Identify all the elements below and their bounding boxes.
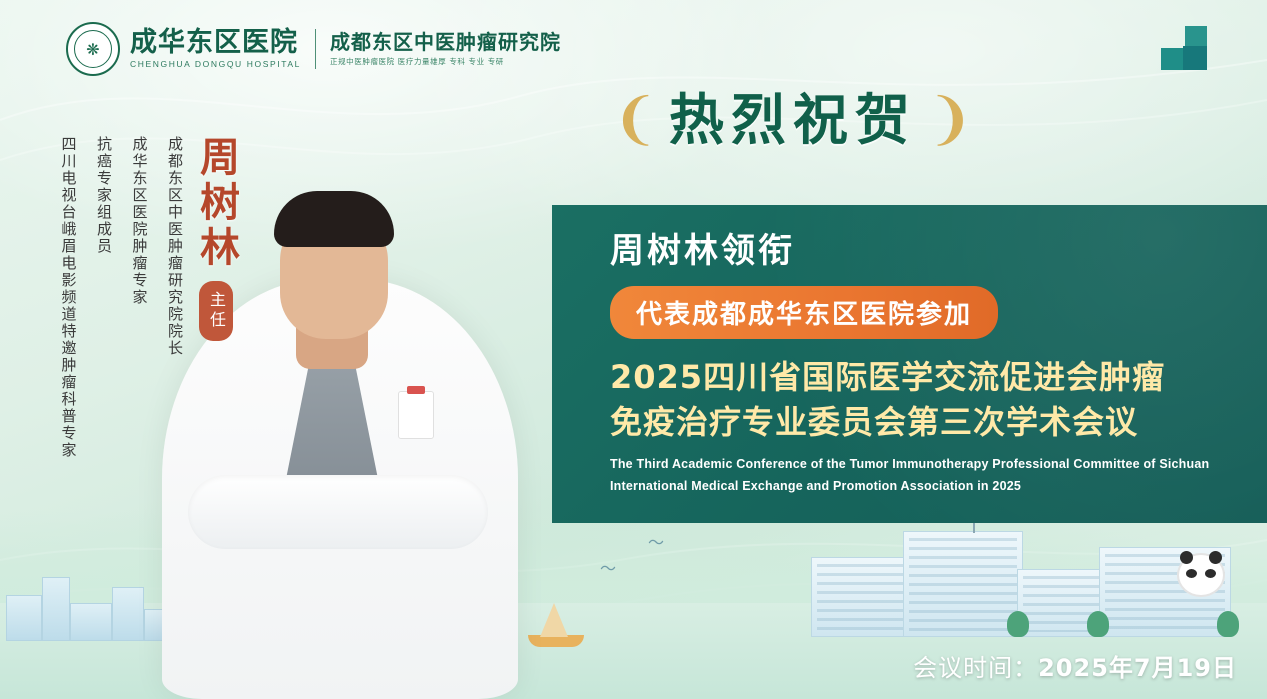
doctor-credential-line: 抗癌专家组成员 (90, 136, 119, 255)
hospital-illustration (811, 517, 1231, 637)
hospital-seal-icon: ❋ (66, 22, 120, 76)
conference-title-line2: 免疫治疗专业委员会第三次学术会议 (610, 400, 1267, 444)
poster-canvas: 〜 〜 ❋ 成华东区医院 CHENGHUA DONGQU HOSPITAL 成都… (0, 0, 1267, 699)
laurel-right-icon: ❨ (927, 92, 974, 148)
panda-icon (1177, 553, 1225, 597)
conference-title-en-line2: International Medical Exchange and Promo… (610, 476, 1210, 497)
doctor-credential-line: 成都东区中医肿瘤研究院院长 (161, 136, 190, 357)
boat-sail-illustration (540, 603, 568, 637)
meeting-date-label: 会议时间： (913, 654, 1038, 682)
logo-institute-name: 成都东区中医肿瘤研究院 (330, 31, 561, 53)
logo-hospital-name: 成华东区医院 (130, 29, 301, 57)
doctor-title-badge: 主任 (199, 281, 233, 341)
conference-title-en-line1: The Third Academic Conference of the Tum… (610, 454, 1210, 475)
lead-doctor-line: 周树林领衔 (610, 233, 1267, 270)
meeting-date-value: 2025年7月19日 (1038, 654, 1237, 682)
bird-icon: 〜 (648, 529, 664, 553)
doctor-badge-icon (398, 391, 434, 439)
congratulations-text: 热烈祝贺 (669, 93, 917, 148)
representation-pill: 代表成都成华东区医院参加 (610, 286, 998, 339)
doctor-credential-line: 成华东区医院肿瘤专家 (125, 136, 154, 306)
bird-icon: 〜 (600, 555, 616, 579)
meeting-date: 会议时间：2025年7月19日 (913, 648, 1237, 683)
corner-squares-decoration (1161, 26, 1225, 78)
congratulations-banner: ❨ 热烈祝贺 ❨ (612, 92, 974, 148)
laurel-left-icon: ❨ (612, 92, 659, 148)
doctor-name: 周树林 (196, 136, 236, 271)
doctor-credential-line: 四川电视台峨眉电影频道特邀肿瘤科普专家 (54, 136, 83, 459)
conference-info-panel: 周树林领衔 代表成都成华东区医院参加 2025四川省国际医学交流促进会肿瘤 免疫… (552, 205, 1267, 523)
doctor-info-vertical: 周树林 主任 成都东区中医肿瘤研究院院长 成华东区医院肿瘤专家 抗癌专家组成员 … (54, 136, 236, 459)
conference-title-line1: 2025四川省国际医学交流促进会肿瘤 (610, 355, 1267, 399)
